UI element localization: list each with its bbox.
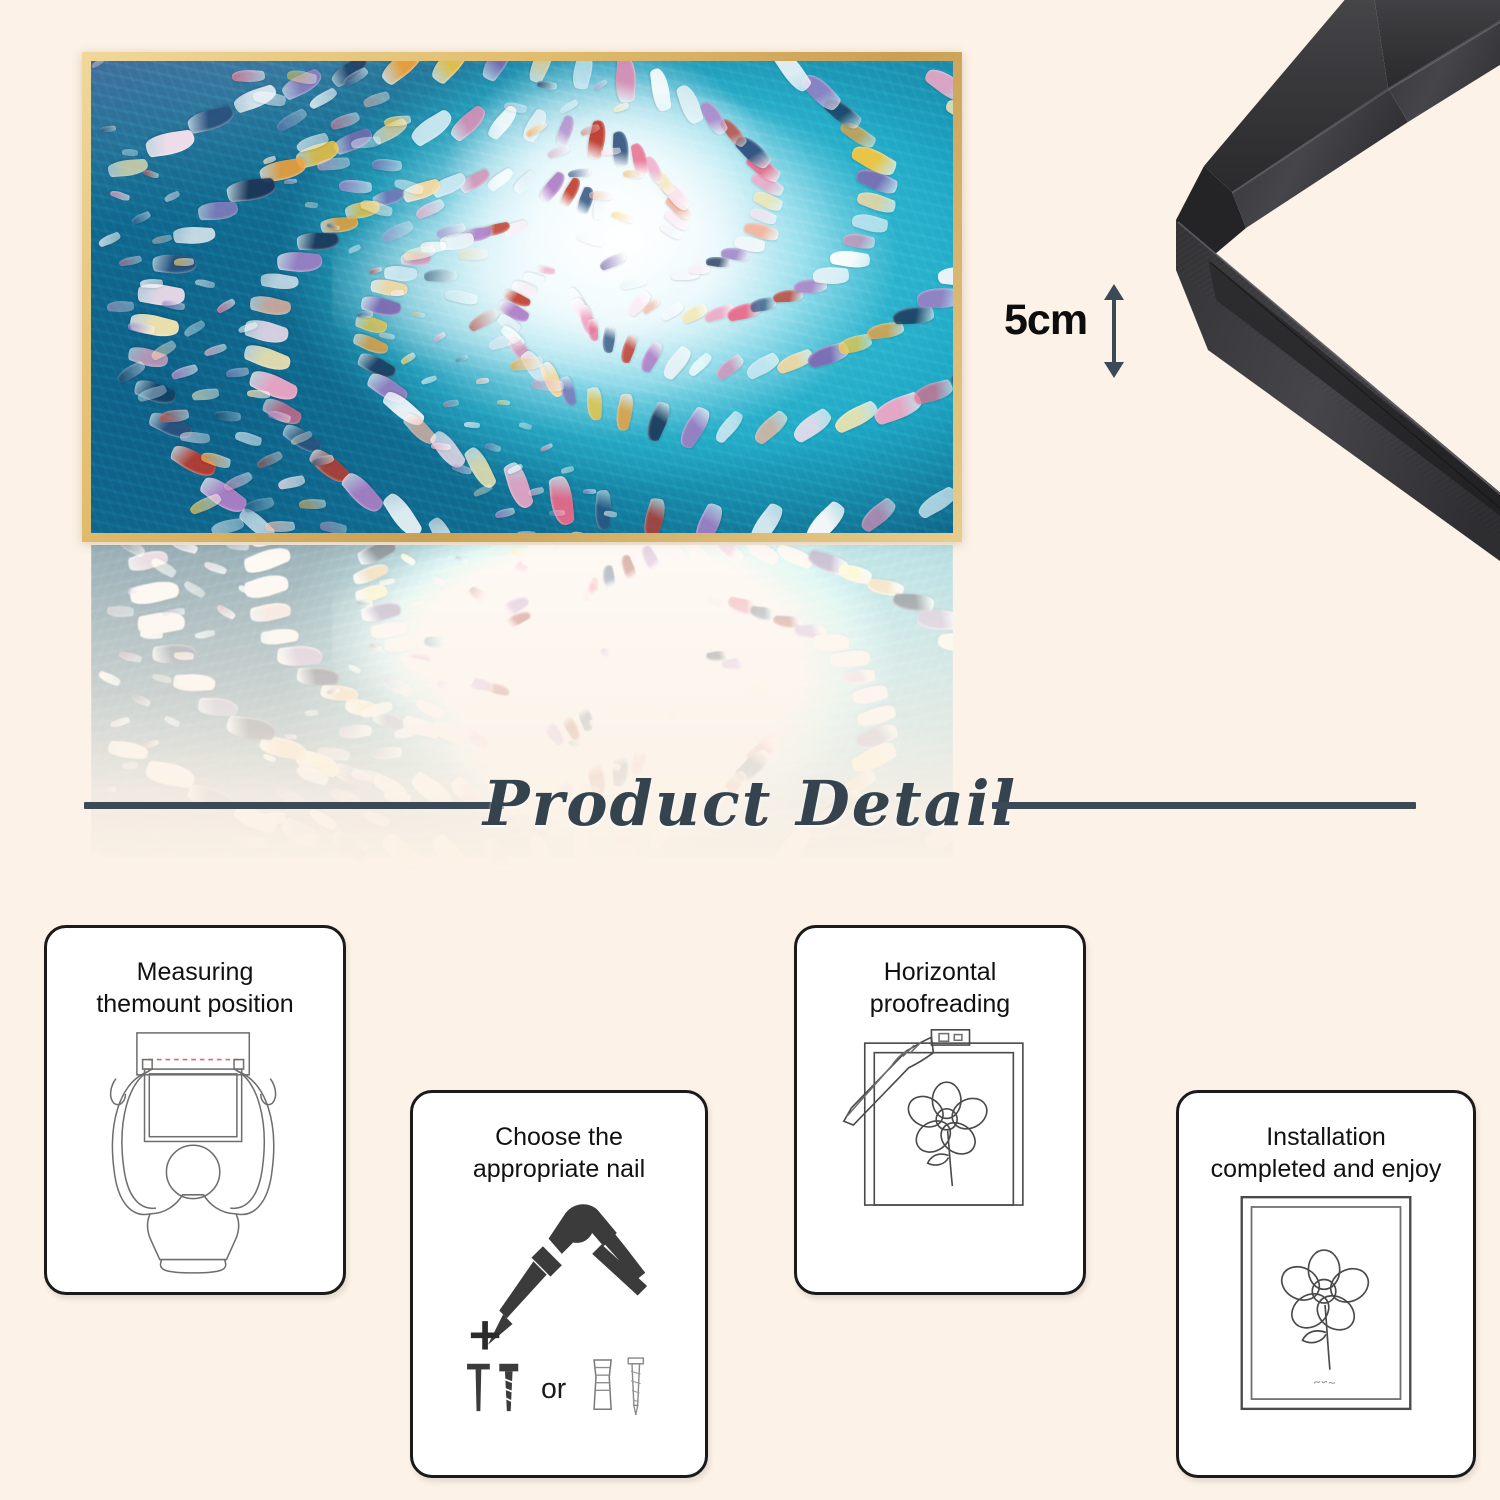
hammer-and-nails-icon: or <box>450 1191 668 1419</box>
frame-depth-label: 5cm <box>1004 296 1087 345</box>
step-card-choose-nail[interactable]: Choose the appropriate nail <box>410 1090 708 1478</box>
fish-stroke <box>357 599 374 607</box>
fish-stroke <box>265 520 296 533</box>
divider-right <box>992 802 1416 809</box>
step-title-line2: completed and enjoy <box>1211 1153 1442 1185</box>
step-illustration <box>797 1020 1083 1292</box>
fish-stroke <box>391 289 404 296</box>
fish-stroke <box>516 531 536 533</box>
fish-stroke <box>583 488 596 494</box>
step-card-title: Choose the appropriate nail <box>459 1121 659 1185</box>
person-holding-frame-measuring-icon <box>95 1026 295 1276</box>
step-title-line1: Installation <box>1211 1121 1442 1153</box>
product-painting[interactable] <box>82 52 962 542</box>
or-label: or <box>541 1373 566 1405</box>
step-title-line1: Choose the <box>473 1121 645 1153</box>
step-title-line2: proofreading <box>870 988 1010 1020</box>
frame-depth-arrow-icon <box>1096 284 1132 378</box>
step-title-line2: appropriate nail <box>473 1153 645 1185</box>
step-card-title: Measuring themount position <box>82 956 307 1020</box>
framed-flower-artwork-icon <box>1228 1191 1424 1417</box>
step-card-title: Horizontal proofreading <box>856 956 1024 1020</box>
hand-with-spirit-level-on-frame-icon <box>840 1026 1040 1226</box>
painting-canvas <box>91 61 953 533</box>
fish-stroke <box>140 629 164 640</box>
fish-stroke <box>192 388 219 400</box>
fish-stroke <box>588 319 598 341</box>
fish-stroke <box>384 115 411 126</box>
product-detail-page: 5cm Product Detail Measuring themount po… <box>0 0 1500 1500</box>
step-card-measuring[interactable]: Measuring themount position <box>44 925 346 1295</box>
step-title-line1: Measuring <box>96 956 293 988</box>
step-title-line2: themount position <box>96 988 293 1020</box>
fish-stroke <box>284 734 297 739</box>
black-frame-corner-closeup <box>1120 0 1500 590</box>
fish-stroke <box>106 300 133 312</box>
step-illustration: or <box>413 1185 705 1475</box>
fish-stroke <box>232 69 266 83</box>
fish-stroke <box>173 257 193 266</box>
step-illustration <box>47 1020 343 1292</box>
fish-stroke <box>443 399 460 406</box>
section-header: Product Detail <box>0 752 1500 860</box>
step-card-horizontal-proofreading[interactable]: Horizontal proofreading <box>794 925 1086 1295</box>
fish-stroke <box>424 268 458 283</box>
step-card-title: Installation completed and enjoy <box>1197 1121 1456 1185</box>
fish-stroke <box>615 61 638 103</box>
step-card-installation-complete[interactable]: Installation completed and enjoy <box>1176 1090 1476 1478</box>
step-illustration <box>1179 1185 1473 1475</box>
step-title-line1: Horizontal <box>870 956 1010 988</box>
